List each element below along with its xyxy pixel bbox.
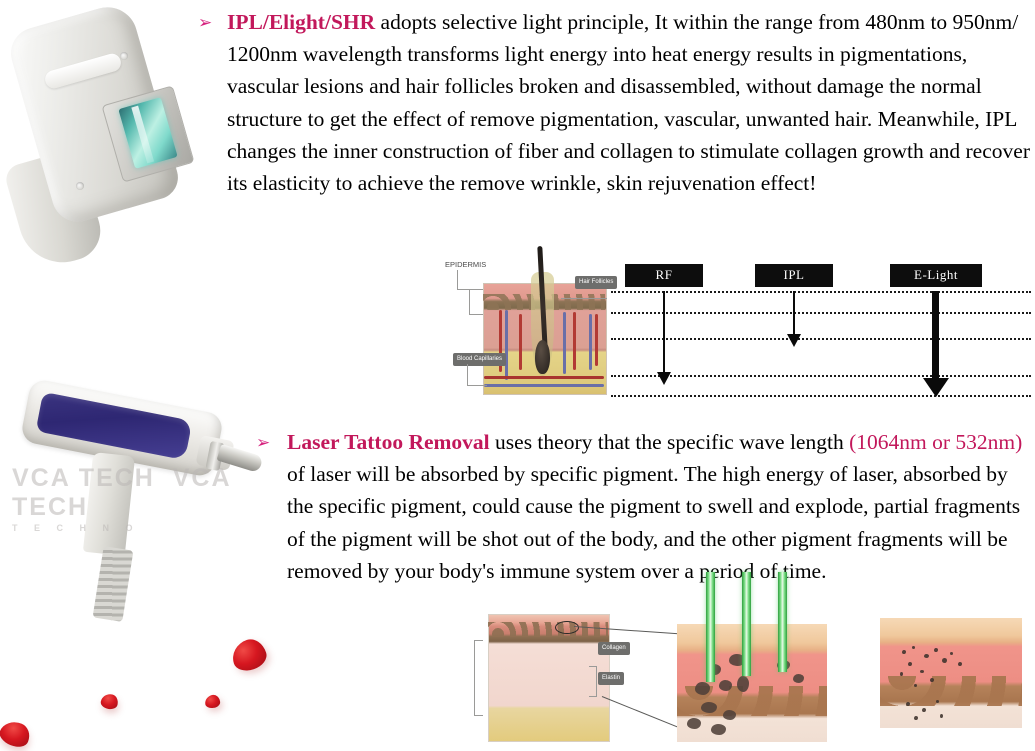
laser-handpiece-cable (93, 546, 134, 622)
pigment-fragment (908, 662, 912, 666)
pigment-fragment (958, 662, 962, 666)
paragraph-tattoo: Laser Tattoo Removal uses theory that th… (287, 426, 1035, 587)
depth-gridline (611, 291, 1031, 293)
ipl-screw-icon (76, 182, 84, 190)
rose-petal (100, 692, 120, 710)
leader-line (467, 364, 468, 386)
dermo-epidermal-wave (488, 622, 608, 636)
capillary (505, 310, 508, 380)
pigment-fragment (936, 700, 939, 703)
arrow-shaft-rf (663, 291, 665, 374)
pigment-fragment (906, 702, 910, 706)
bullet-arrow-icon-tattoo: ➢ (256, 435, 270, 452)
pigment-particle (687, 718, 701, 729)
pigment-fragment (902, 650, 906, 654)
panel-fragmented-pigment (880, 618, 1022, 728)
rose-petal (0, 717, 33, 750)
leader-line (457, 289, 483, 290)
laser-beam (742, 572, 751, 676)
modality-box-elight: E-Light (890, 264, 982, 287)
modality-box-ipl: IPL (755, 264, 833, 287)
pigment-fragment (900, 672, 903, 676)
capillary (589, 314, 592, 370)
leader-line (469, 314, 483, 315)
arrow-head-elight (923, 378, 949, 397)
pigment-fragment (930, 678, 934, 682)
depth-gridline (611, 375, 1031, 377)
depth-gridline (611, 395, 1031, 397)
heading-ipl: IPL/Elight/SHR (227, 10, 375, 34)
capillary (519, 314, 522, 370)
laser-handpiece-image: VCA TECH VCA TECH T E C H N O (2, 382, 272, 652)
pigment-fragment (920, 670, 924, 673)
capillary (573, 312, 576, 370)
paragraph-ipl: IPL/Elight/SHR adopts selective light pr… (227, 6, 1035, 199)
body-tattoo-part1: uses theory that the specific wave lengt… (490, 430, 849, 454)
leader-line (589, 666, 597, 667)
watermark: VCA TECH VCA TECH T E C H N O (12, 464, 274, 533)
pigment-particle (711, 724, 726, 735)
laser-beam (706, 572, 715, 682)
pigment-particle (719, 680, 732, 691)
pigment-fragment (934, 648, 938, 652)
callout-zoom-circle (555, 621, 579, 634)
laser-beam (778, 572, 787, 672)
pigment-particle (737, 676, 749, 692)
pigment-fragment (940, 714, 943, 718)
leader-line (467, 385, 487, 386)
pigment-fragment (914, 684, 917, 687)
body-ipl: adopts selective light principle, It wit… (227, 10, 1030, 195)
watermark-text: VCA TECH VCA TECH (12, 464, 231, 521)
pigment-fragment (924, 654, 929, 658)
capillary-base (484, 384, 604, 387)
body-tattoo-wavelengths: (1064nm or 532nm) (849, 430, 1022, 454)
leader-line (474, 715, 483, 716)
leader-line (474, 640, 483, 641)
depth-gridline (611, 312, 1031, 314)
pigment-particle (701, 702, 717, 713)
modality-box-rf: RF (625, 264, 703, 287)
dermis-wave (880, 676, 1022, 706)
pigment-particle (793, 674, 804, 683)
leader-line (596, 666, 597, 696)
watermark-subtext: T E C H N O (12, 523, 274, 533)
label-blood-capillaries: Blood Capillaries (453, 353, 506, 366)
panel-laser-targeting-pigment (677, 624, 827, 742)
tattoo-removal-diagram: Collagen Elastin (470, 596, 1035, 742)
label-epidermis: EPIDERMIS (445, 260, 486, 269)
penetration-depth-diagram: EPIDERMIS Hair Follicles Blood Capillari… (443, 258, 1035, 408)
capillary (595, 314, 598, 366)
depth-gridline (611, 338, 1031, 340)
ipl-screw-icon (120, 52, 128, 60)
arrow-shaft-elight (932, 291, 939, 383)
pigment-particle (695, 682, 710, 695)
leader-line (561, 298, 607, 299)
label-collagen: Collagen (598, 642, 630, 655)
pigment-fragment (942, 658, 947, 663)
bullet-arrow-icon-ipl: ➢ (198, 15, 212, 32)
arrow-head-ipl (787, 334, 801, 347)
label-hair-follicles: Hair Follicles (575, 276, 617, 289)
capillary-base (484, 376, 604, 379)
body-tattoo-part2: of laser will be absorbed by specific pi… (287, 462, 1020, 583)
arrow-head-rf (657, 372, 671, 385)
pigment-fragment (950, 652, 953, 655)
pigment-particle (723, 710, 736, 720)
ipl-handpiece-image (8, 6, 198, 264)
rose-petal (204, 694, 221, 709)
hair-bulb (535, 340, 550, 374)
capillary (563, 312, 566, 374)
leader-line (469, 289, 470, 315)
leader-line (474, 640, 475, 716)
heading-tattoo: Laser Tattoo Removal (287, 430, 490, 454)
pigment-fragment (912, 646, 915, 649)
leader-line (589, 696, 597, 697)
leader-line (457, 270, 458, 290)
label-elastin: Elastin (598, 672, 624, 685)
arrow-shaft-ipl (793, 291, 795, 336)
pigment-fragment (914, 716, 918, 720)
pigment-fragment (922, 708, 926, 712)
